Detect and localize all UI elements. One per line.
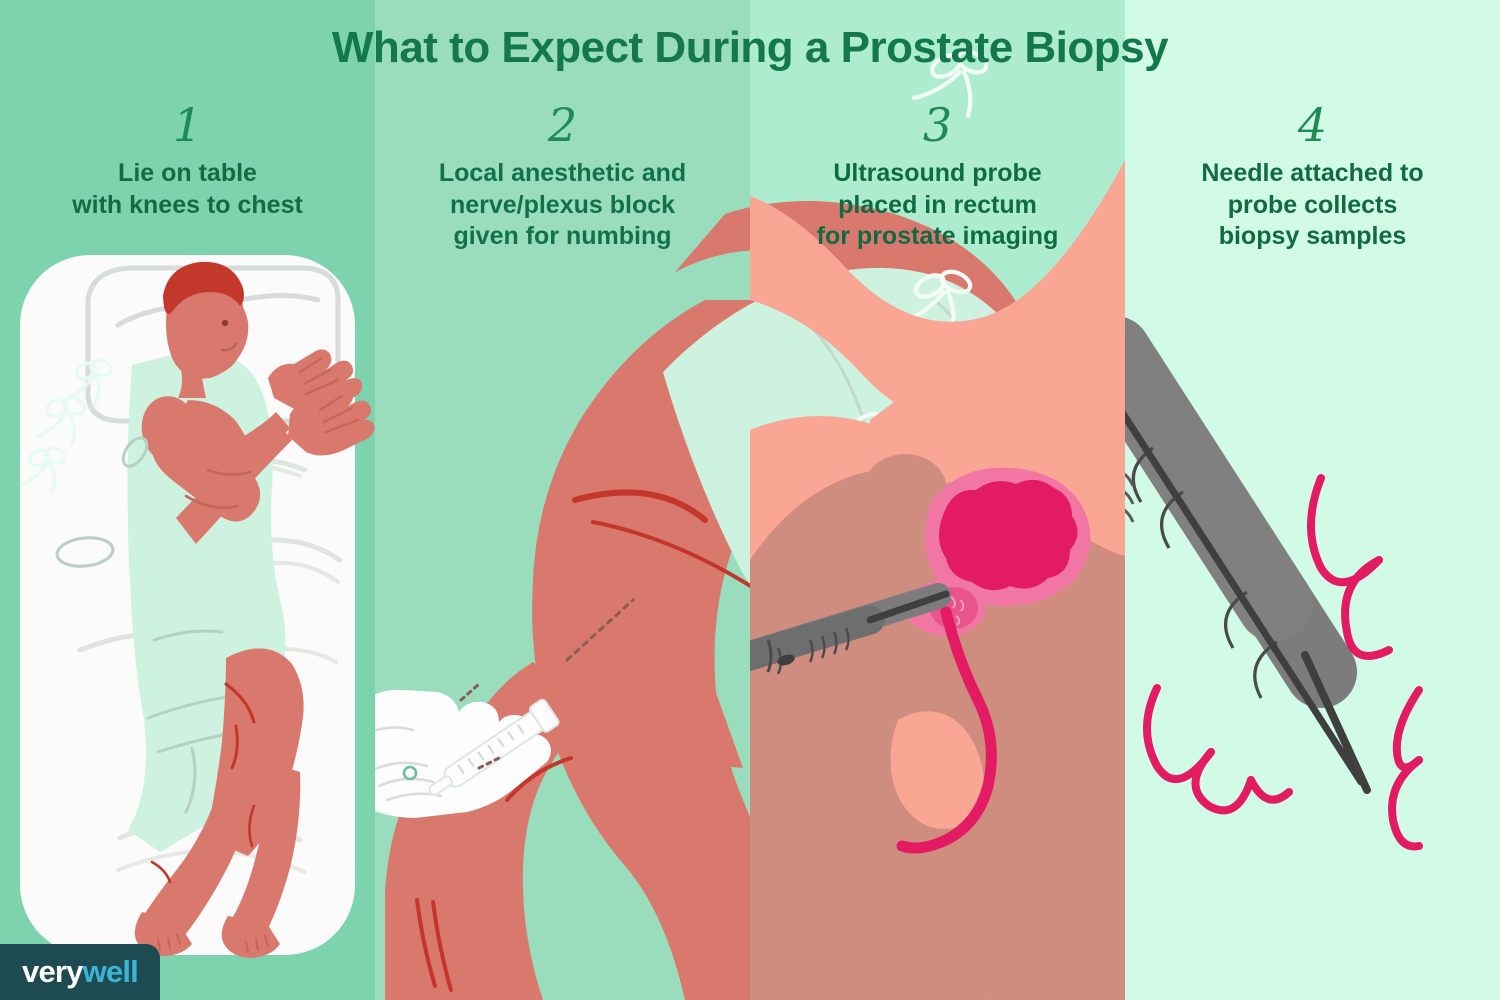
page-title: What to Expect During a Prostate Biopsy: [0, 0, 1500, 96]
gloved-hand: [375, 690, 551, 818]
caption-line: probe collects: [1139, 190, 1486, 222]
caption-line: biopsy samples: [1139, 221, 1486, 253]
panel-caption-4: Needle attached to probe collects biopsy…: [1139, 158, 1486, 253]
caption-line: Needle attached to: [1139, 158, 1486, 190]
verywell-logo[interactable]: verywell: [0, 944, 160, 1000]
panel-number-3: 3: [764, 102, 1111, 148]
panel-header-4: 4 Needle attached to probe collects biop…: [1125, 96, 1500, 253]
ultrasound-probe-panel4: [1125, 352, 1367, 790]
panel-number-2: 2: [389, 102, 736, 148]
panel-caption-2: Local anesthetic and nerve/plexus block …: [389, 158, 736, 253]
caption-line: given for numbing: [389, 221, 736, 253]
panel-caption-1: Lie on table with knees to chest: [14, 158, 361, 221]
patient-eye: [222, 320, 228, 326]
caption-line: nerve/plexus block: [389, 190, 736, 222]
panel-number-4: 4: [1139, 102, 1486, 148]
bladder-inner: [939, 480, 1078, 590]
sample-squiggle-3: [1392, 690, 1419, 846]
caption-line: Local anesthetic and: [389, 158, 736, 190]
caption-line: Ultrasound probe: [764, 158, 1111, 190]
panel-caption-3: Ultrasound probe placed in rectum for pr…: [764, 158, 1111, 253]
caption-line: Lie on table: [14, 158, 361, 190]
logo-text-very: very: [22, 954, 83, 989]
logo-text-well: well: [83, 954, 138, 989]
panel-header-3: 3 Ultrasound probe placed in rectum for …: [750, 96, 1125, 253]
syringe-needle: [567, 600, 633, 660]
panel-headers: 1 Lie on table with knees to chest 2 Loc…: [0, 96, 1500, 253]
caption-line: placed in rectum: [764, 190, 1111, 222]
panel-number-1: 1: [14, 102, 361, 148]
caption-line: for prostate imaging: [764, 221, 1111, 253]
sample-squiggle-2: [1147, 688, 1289, 810]
caption-line: with knees to chest: [14, 190, 361, 222]
panel-header-1: 1 Lie on table with knees to chest: [0, 96, 375, 253]
infographic-root: What to Expect During a Prostate Biopsy …: [0, 0, 1500, 1000]
panel-header-2: 2 Local anesthetic and nerve/plexus bloc…: [375, 96, 750, 253]
